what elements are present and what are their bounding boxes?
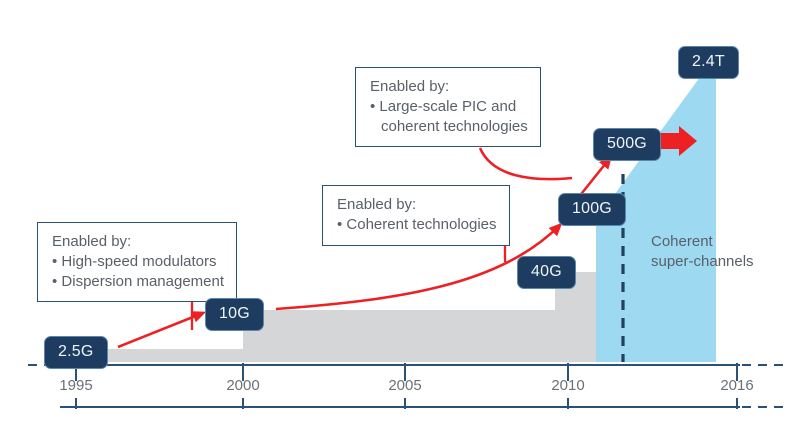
- callout-box-3: Enabled by: • Large-scale PIC and cohere…: [355, 67, 541, 147]
- region-label-line-1: Coherent: [651, 232, 754, 252]
- capacity-badge-40g[interactable]: 40G: [517, 256, 576, 289]
- capacity-badge-500g[interactable]: 500G: [593, 128, 661, 161]
- callout-1-title: Enabled by:: [52, 232, 224, 252]
- axis-label-1995: 1995: [46, 378, 106, 393]
- capacity-badge-10g[interactable]: 10G: [205, 298, 264, 331]
- callout-3-item-1: • Large-scale PIC and: [370, 97, 528, 117]
- capacity-badge-2-4t[interactable]: 2.4T: [678, 46, 739, 79]
- callout-2-item-1: • Coherent technologies: [337, 215, 497, 235]
- capacity-evolution-diagram: Enabled by: • High-speed modulators • Di…: [0, 0, 800, 447]
- capacity-badge-100g[interactable]: 100G: [558, 193, 626, 226]
- callout-3-connector: [480, 148, 572, 179]
- coherent-super-channels-label: Coherent super-channels: [651, 232, 754, 271]
- arrow-100g-to-500g: [578, 158, 610, 198]
- axis-label-2000: 2000: [213, 378, 273, 393]
- axis-label-2005: 2005: [375, 378, 435, 393]
- callout-3-item-2: coherent technologies: [370, 117, 528, 137]
- callout-box-2: Enabled by: • Coherent technologies: [322, 185, 510, 246]
- callout-2-title: Enabled by:: [337, 195, 497, 215]
- axis-label-2016: 2016: [707, 378, 767, 393]
- callout-1-item-1: • High-speed modulators: [52, 252, 224, 272]
- region-label-line-2: super-channels: [651, 252, 754, 272]
- callout-1-item-2: • Dispersion management: [52, 272, 224, 292]
- arrow-2.5g-to-10g: [118, 313, 203, 347]
- axis-label-2010: 2010: [538, 378, 598, 393]
- capacity-badge-2-5g[interactable]: 2.5G: [44, 336, 108, 369]
- callout-3-title: Enabled by:: [370, 77, 528, 97]
- callout-box-1: Enabled by: • High-speed modulators • Di…: [37, 222, 237, 302]
